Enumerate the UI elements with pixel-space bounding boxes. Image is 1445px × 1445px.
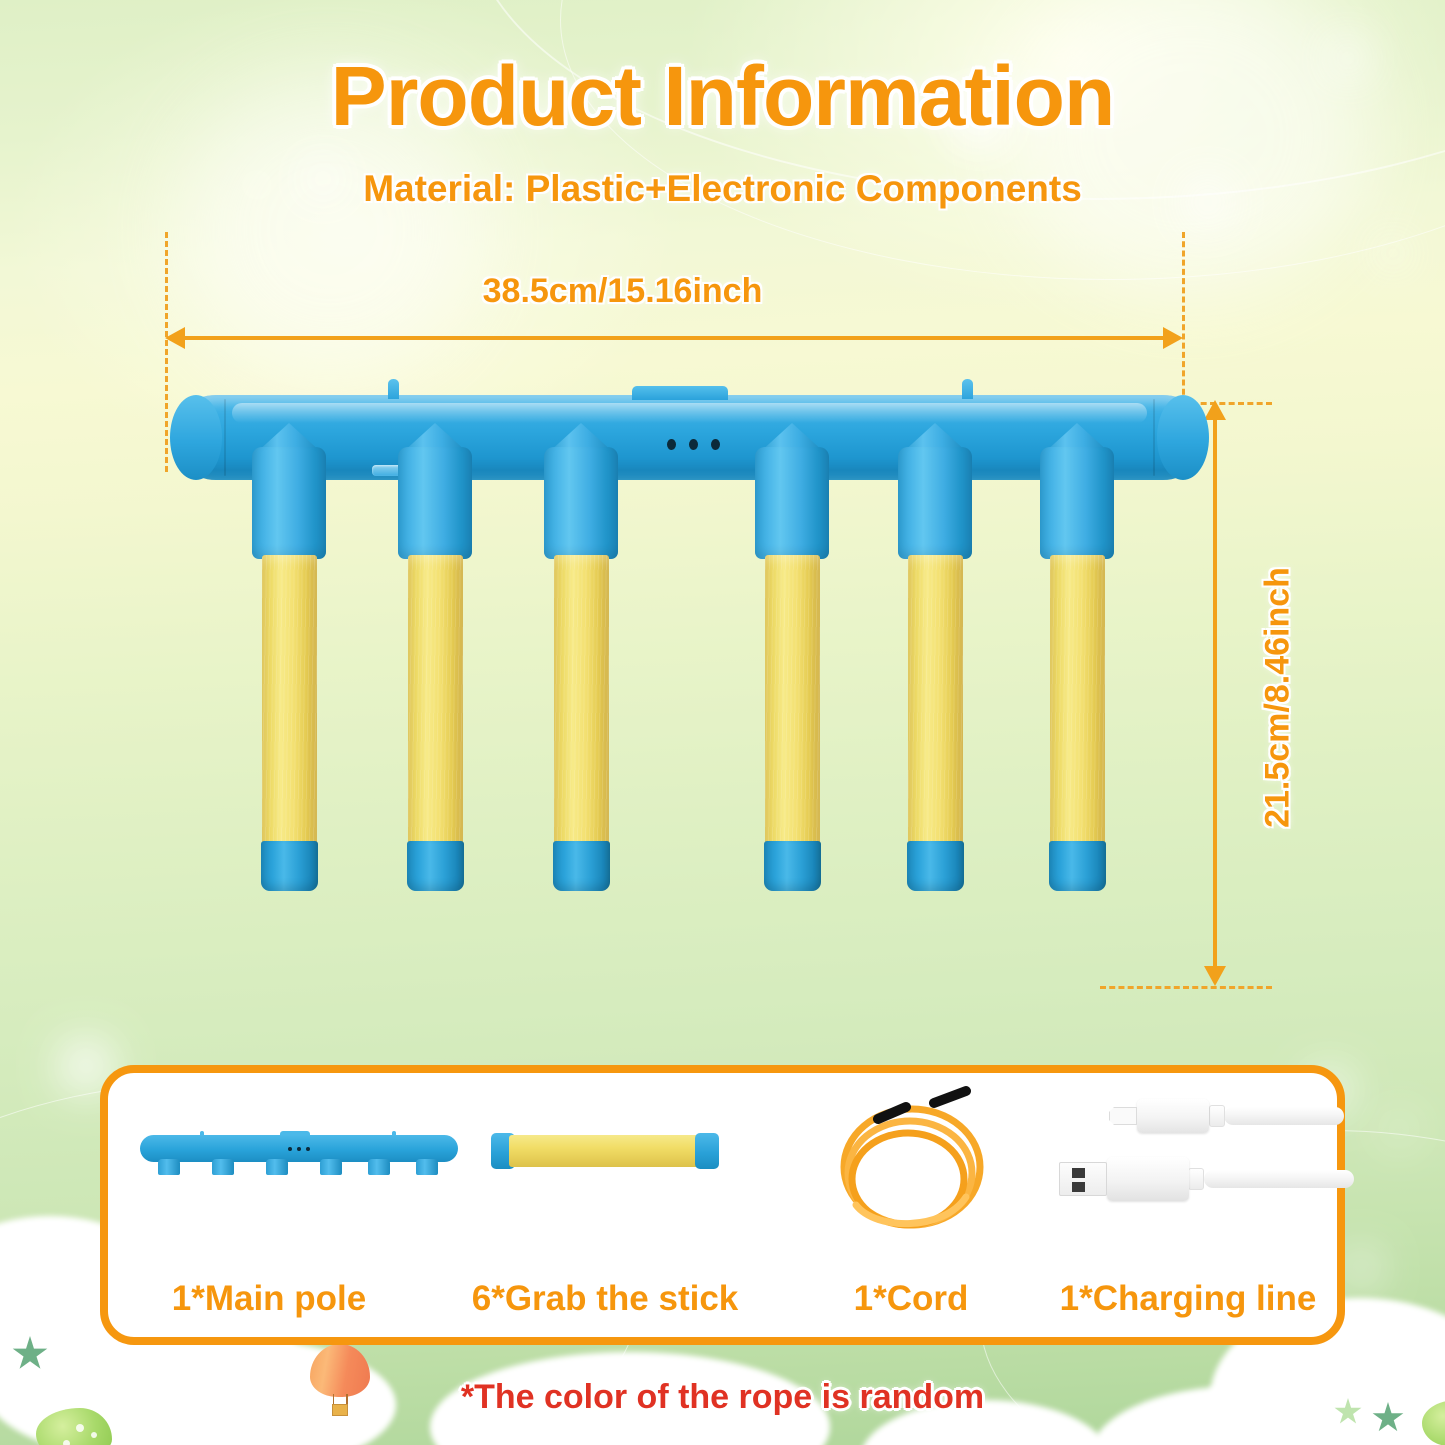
package-contents-box: 1*Main pole 6*Grab the stick [100,1065,1345,1345]
stick-shaft [262,555,317,845]
contents-item-label: 1*Charging line [1038,1279,1338,1319]
main-pole-seam-right [1153,399,1155,476]
cable-wire-top [1224,1107,1344,1125]
main-pole-top-tab [632,386,728,400]
contents-item-label: 1*Main pole [114,1279,424,1319]
material-subtitle: Material: Plastic+Electronic Components [0,168,1445,210]
main-pole-icon [140,1135,458,1169]
charging-cable-icon [1052,1095,1322,1215]
star-icon-left [12,1336,48,1372]
socket-body [544,447,618,559]
stick-bottom-cap [764,841,821,891]
stick-shaft [1050,555,1105,845]
stick-shaft [765,555,820,845]
width-dimension-line [182,336,1176,340]
cable-ferrule-bottom [1188,1168,1204,1190]
bokeh-dot-11 [1345,1252,1377,1284]
product-illustration [160,375,1225,1015]
width-arrow-left [165,327,185,349]
main-pole-seam-left [224,399,226,476]
socket-body [398,447,472,559]
socket-body [898,447,972,559]
contents-item-label: 1*Cord [786,1279,1036,1319]
product-information-page: Product Information Material: Plastic+El… [0,0,1445,1445]
contents-item-main-pole: 1*Main pole [114,1073,424,1337]
main-pole-nub-right [962,379,973,399]
stick-bottom-cap [907,841,964,891]
usb-a-connector [1107,1157,1189,1201]
page-title: Product Information [0,48,1445,145]
grab-stick-icon [491,1133,719,1169]
socket-body [252,447,326,559]
speaker-holes-icon [667,439,720,450]
cord-icon [816,1085,1006,1245]
rope-color-disclaimer: *The color of the rope is random [0,1378,1445,1417]
cable-wire-bottom [1204,1170,1354,1188]
stick-bottom-cap [261,841,318,891]
stick-bottom-cap [1049,841,1106,891]
stick-shaft [408,555,463,845]
socket-body [1040,447,1114,559]
height-dimension-label: 21.5cm/8.46inch [1259,548,1298,848]
stick-bottom-cap [553,841,610,891]
contents-item-grab-stick: 6*Grab the stick [438,1073,772,1337]
stick-bottom-cap [407,841,464,891]
width-arrow-right [1163,327,1183,349]
bokeh-dot-9 [1388,1118,1410,1140]
width-dimension-label: 38.5cm/15.16inch [0,272,1445,311]
contents-item-charging-line: 1*Charging line [1038,1073,1338,1337]
cable-ferrule-top [1209,1105,1225,1127]
socket-body [755,447,829,559]
main-pole-end-left [170,395,222,480]
main-pole-nub-left [388,379,399,399]
main-pole-highlight [232,403,1147,423]
stick-shaft [908,555,963,845]
contents-item-label: 6*Grab the stick [438,1279,772,1319]
micro-usb-connector [1137,1099,1209,1133]
contents-item-cord: 1*Cord [786,1073,1036,1337]
main-pole-end-right [1157,395,1209,480]
bokeh-glow-2 [1010,0,1370,300]
stick-shaft [554,555,609,845]
bokeh-dot-6 [1380,240,1406,266]
